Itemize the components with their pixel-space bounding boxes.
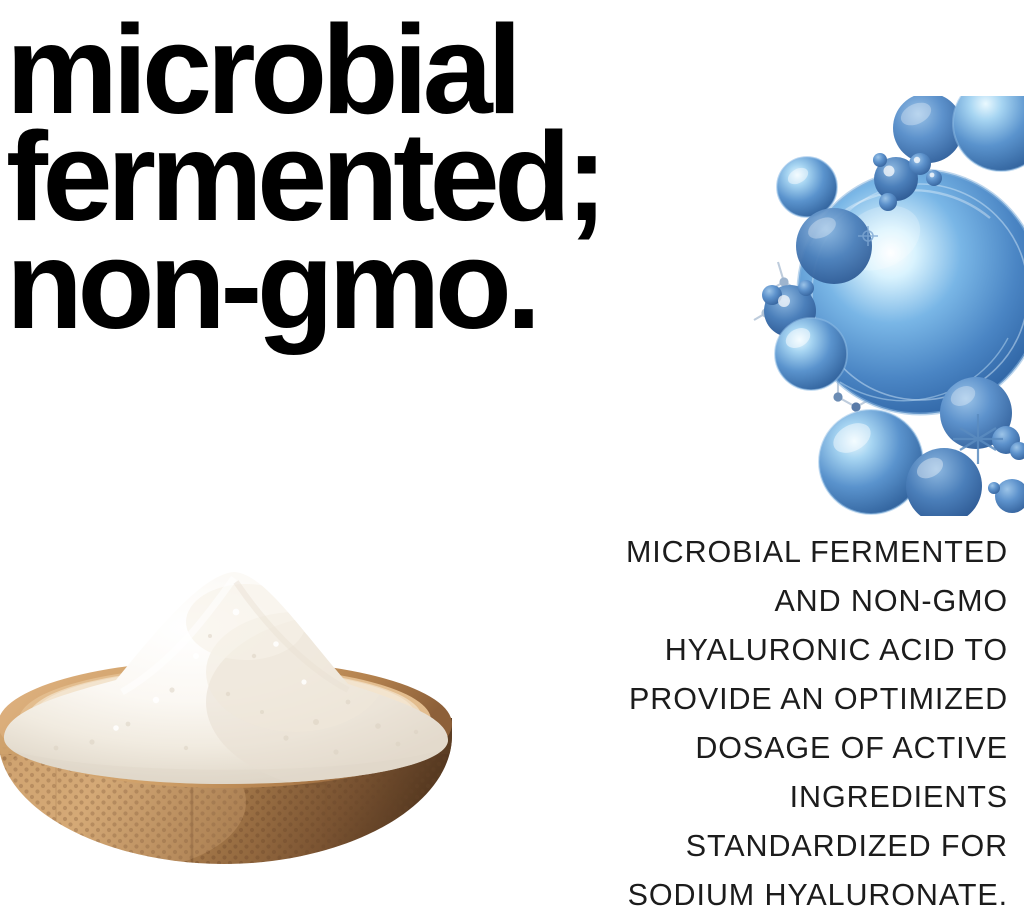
body-copy-block: MICROBIAL FERMENTED AND NON-GMO HYALURON… bbox=[498, 528, 1008, 915]
body-copy-line-3: HYALURONIC ACID TO bbox=[498, 626, 1008, 675]
small-sparkle-icon bbox=[858, 226, 878, 246]
body-copy-line-2: AND NON-GMO bbox=[498, 577, 1008, 626]
bamboo-bowl-image bbox=[0, 552, 466, 907]
headline-block: microbial fermented; non-gmo. bbox=[6, 0, 826, 346]
promo-graphic-page: microbial fermented; non-gmo. bbox=[0, 0, 1024, 915]
body-copy-line-8: SODIUM HYALURONATE. bbox=[498, 871, 1008, 915]
sphere-cluster-lower bbox=[819, 377, 1024, 516]
headline-line-3: non-gmo. bbox=[6, 223, 826, 346]
body-copy-line-7: STANDARDIZED FOR bbox=[498, 822, 1008, 871]
body-copy-line-1: MICROBIAL FERMENTED bbox=[498, 528, 1008, 577]
body-copy-line-6: INGREDIENTS bbox=[498, 773, 1008, 822]
bubble-cluster-upper bbox=[873, 153, 942, 211]
hero-sphere bbox=[798, 170, 1024, 414]
body-copy-line-5: DOSAGE OF ACTIVE bbox=[498, 724, 1008, 773]
body-copy-line-4: PROVIDE AN OPTIMIZED bbox=[498, 675, 1008, 724]
sparkle-icon bbox=[953, 414, 1003, 464]
